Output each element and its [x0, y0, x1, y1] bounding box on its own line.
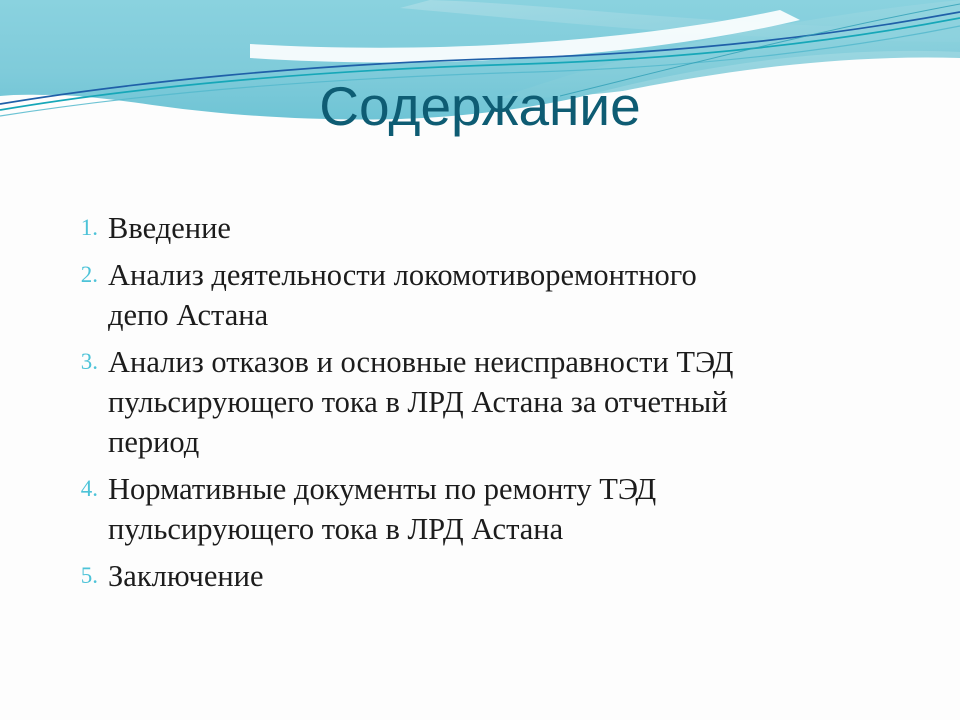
- list-item-text: Анализ отказов и основные неисправности …: [108, 342, 898, 462]
- wave-white-highlight: [250, 10, 800, 62]
- list-item-line: Анализ отказов и основные неисправности …: [108, 342, 898, 382]
- list-item-line: Заключение: [108, 556, 898, 596]
- list-item: 1. Введение: [44, 208, 924, 248]
- title-block: Содержание: [0, 78, 960, 136]
- presentation-slide: Содержание 1. Введение 2. Анализ деятель…: [0, 0, 960, 720]
- list-item-text: Заключение: [108, 556, 898, 596]
- list-item-text: Нормативные документы по ремонту ТЭД пул…: [108, 469, 898, 549]
- list-item-line: пульсирующего тока в ЛРД Астана за отчет…: [108, 382, 898, 422]
- list-item: 3. Анализ отказов и основные неисправнос…: [44, 342, 924, 462]
- list-item-number: 1.: [44, 208, 108, 248]
- list-item-number: 4.: [44, 469, 108, 509]
- list-item-number: 2.: [44, 255, 108, 295]
- list-item-line: Анализ деятельности локомотиворемонтного: [108, 255, 898, 295]
- list-item-number: 3.: [44, 342, 108, 382]
- wave-band-pale: [400, 0, 960, 42]
- list-item-line: депо Астана: [108, 295, 898, 335]
- list-item: 4. Нормативные документы по ремонту ТЭД …: [44, 469, 924, 549]
- list-item-text: Анализ деятельности локомотиворемонтного…: [108, 255, 898, 335]
- list-item-line: период: [108, 422, 898, 462]
- list-item: 5. Заключение: [44, 556, 924, 596]
- table-of-contents-list: 1. Введение 2. Анализ деятельности локом…: [44, 208, 924, 603]
- list-item-text: Введение: [108, 208, 898, 248]
- list-item-number: 5.: [44, 556, 108, 596]
- list-item-line: Нормативные документы по ремонту ТЭД: [108, 469, 898, 509]
- list-item-line: Введение: [108, 208, 898, 248]
- list-item-line: пульсирующего тока в ЛРД Астана: [108, 509, 898, 549]
- page-title: Содержание: [319, 78, 640, 136]
- list-item: 2. Анализ деятельности локомотиворемонтн…: [44, 255, 924, 335]
